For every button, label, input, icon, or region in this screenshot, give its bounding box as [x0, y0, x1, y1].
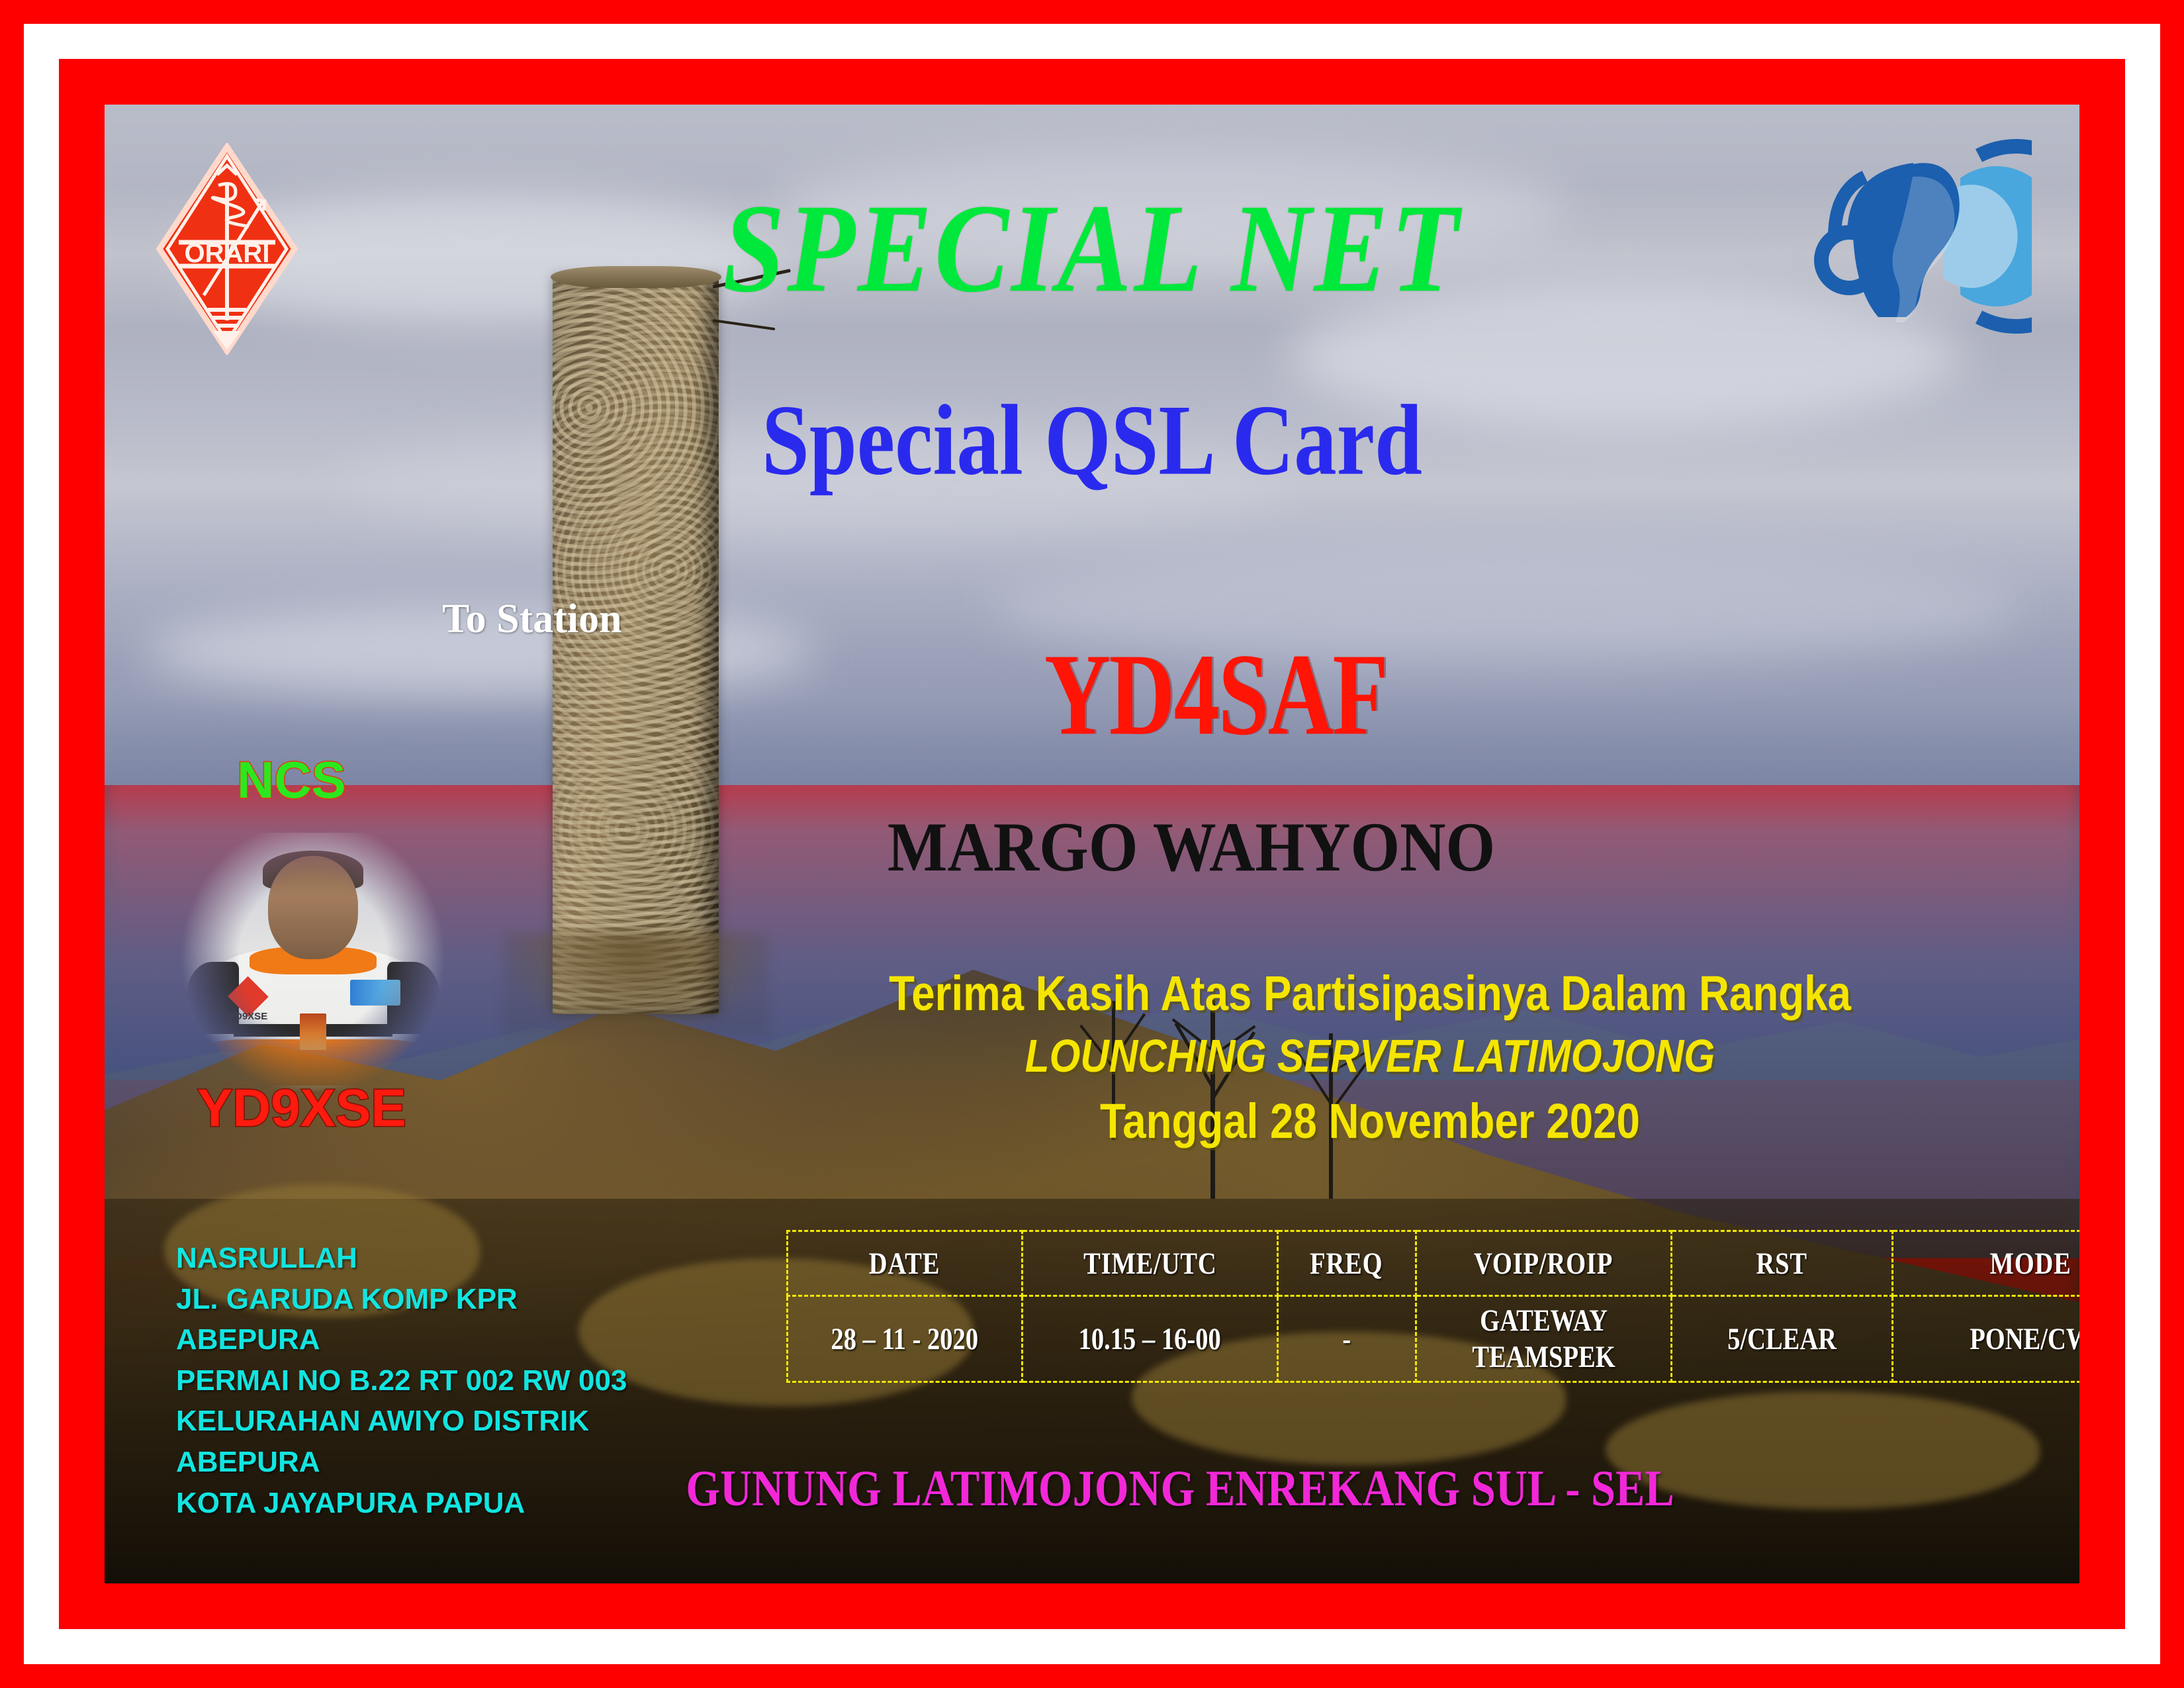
table-header-freq: FREQ — [1277, 1231, 1416, 1296]
address-line: NASRULLAH — [176, 1238, 627, 1279]
event-date-line: Tanggal 28 November 2020 — [851, 1093, 1889, 1149]
qso-log-table: DATE TIME/UTC FREQ VOIP/ROIP RST MODE 28… — [786, 1230, 2079, 1383]
table-header-voip: VOIP/ROIP — [1416, 1231, 1671, 1296]
photo-badge-right — [350, 980, 400, 1006]
table-header-date: DATE — [788, 1231, 1023, 1296]
ncs-callsign: YD9XSE — [197, 1078, 406, 1139]
table-header-rst: RST — [1671, 1231, 1892, 1296]
address-line: PERMAI NO B.22 RT 002 RW 003 — [176, 1360, 627, 1401]
address-line: KELURAHAN AWIYO DISTRIK — [176, 1401, 627, 1442]
ncs-label: NCS — [237, 750, 346, 810]
to-station-label: To Station — [442, 596, 622, 643]
qsl-card-outer-border: ORARI — [0, 0, 2184, 1688]
page-title: SPECIAL NET — [105, 176, 2079, 322]
page-subtitle: Special QSL Card — [154, 383, 2030, 498]
table-row: 28 – 11 - 2020 10.15 – 16-00 - GATEWAY T… — [788, 1296, 2080, 1382]
table-header-mode: MODE — [1892, 1231, 2079, 1296]
photo-id-card — [300, 1013, 326, 1050]
photo-shirt-callsign: YD9XSE — [228, 1011, 267, 1022]
table-cell-date: 28 – 11 - 2020 — [788, 1296, 1023, 1382]
table-cell-rst: 5/CLEAR — [1671, 1296, 1892, 1382]
table-header-time: TIME/UTC — [1022, 1231, 1277, 1296]
qsl-card-photo-area: ORARI — [105, 105, 2079, 1583]
qsl-card-inner-border: ORARI — [59, 59, 2125, 1629]
qsl-card-white-gap: ORARI — [24, 24, 2160, 1664]
table-cell-voip: GATEWAY TEAMSPEK — [1416, 1296, 1671, 1382]
location-line: GUNUNG LATIMOJONG ENREKANG SUL - SEL — [154, 1460, 2030, 1519]
event-title-line: LOUNCHING SERVER LATIMOJONG — [851, 1029, 1889, 1082]
photo-face — [268, 856, 358, 959]
ncs-operator-photo: YD9XSE — [181, 833, 445, 1091]
table-header-row: DATE TIME/UTC FREQ VOIP/ROIP RST MODE — [788, 1231, 2080, 1296]
event-text-block: Terima Kasih Atas Partisipasinya Dalam R… — [766, 965, 1974, 1149]
table-cell-mode: PONE/CW — [1892, 1296, 2079, 1382]
address-line: JL. GARUDA KOMP KPR — [176, 1279, 627, 1320]
address-line: ABEPURA — [176, 1319, 627, 1360]
event-thanks-line: Terima Kasih Atas Partisipasinya Dalam R… — [851, 965, 1889, 1021]
table-cell-time: 10.15 – 16-00 — [1022, 1296, 1277, 1382]
station-callsign: YD4SAF — [1044, 628, 1387, 762]
table-cell-freq: - — [1277, 1296, 1416, 1382]
